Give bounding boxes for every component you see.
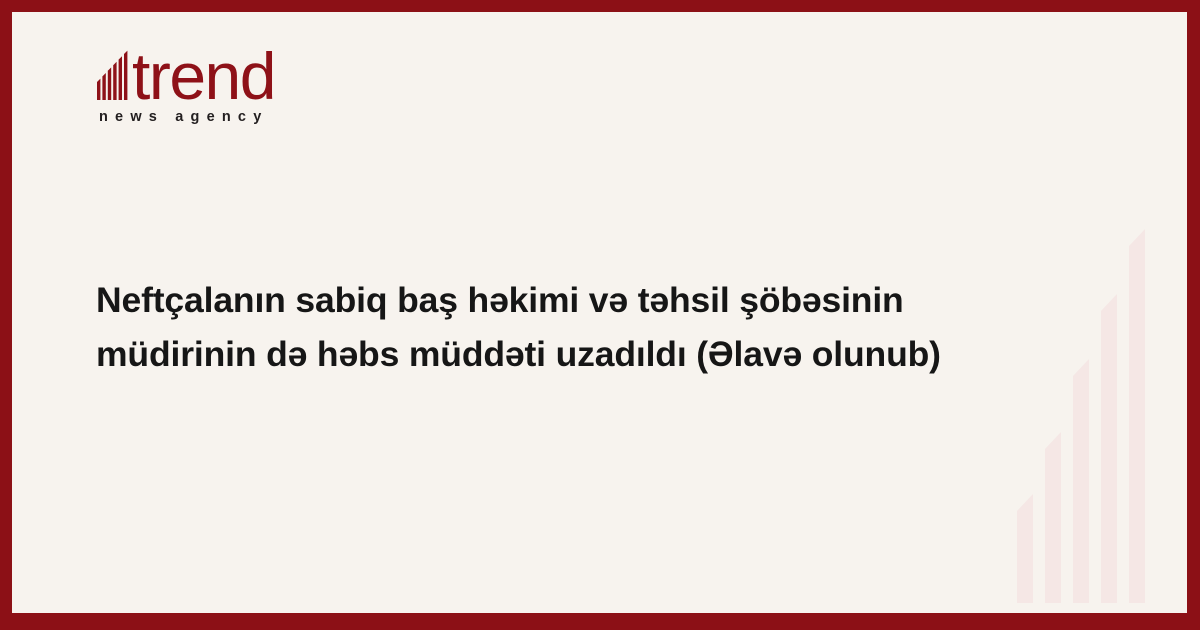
- headline-text: Neftçalanın sabiq baş həkimi və təhsil ş…: [96, 274, 1006, 382]
- ascending-bars-watermark-icon: [1007, 168, 1187, 613]
- social-share-card: trend news agency Neftçalanın sabiq baş …: [0, 0, 1200, 630]
- logo-tagline: news agency: [99, 109, 396, 125]
- card-canvas: trend news agency Neftçalanın sabiq baş …: [12, 12, 1187, 613]
- ascending-bars-icon: [96, 50, 130, 100]
- logo-row: trend: [96, 45, 396, 103]
- brand-logo[interactable]: trend news agency: [96, 45, 396, 125]
- logo-wordmark: trend: [132, 49, 275, 103]
